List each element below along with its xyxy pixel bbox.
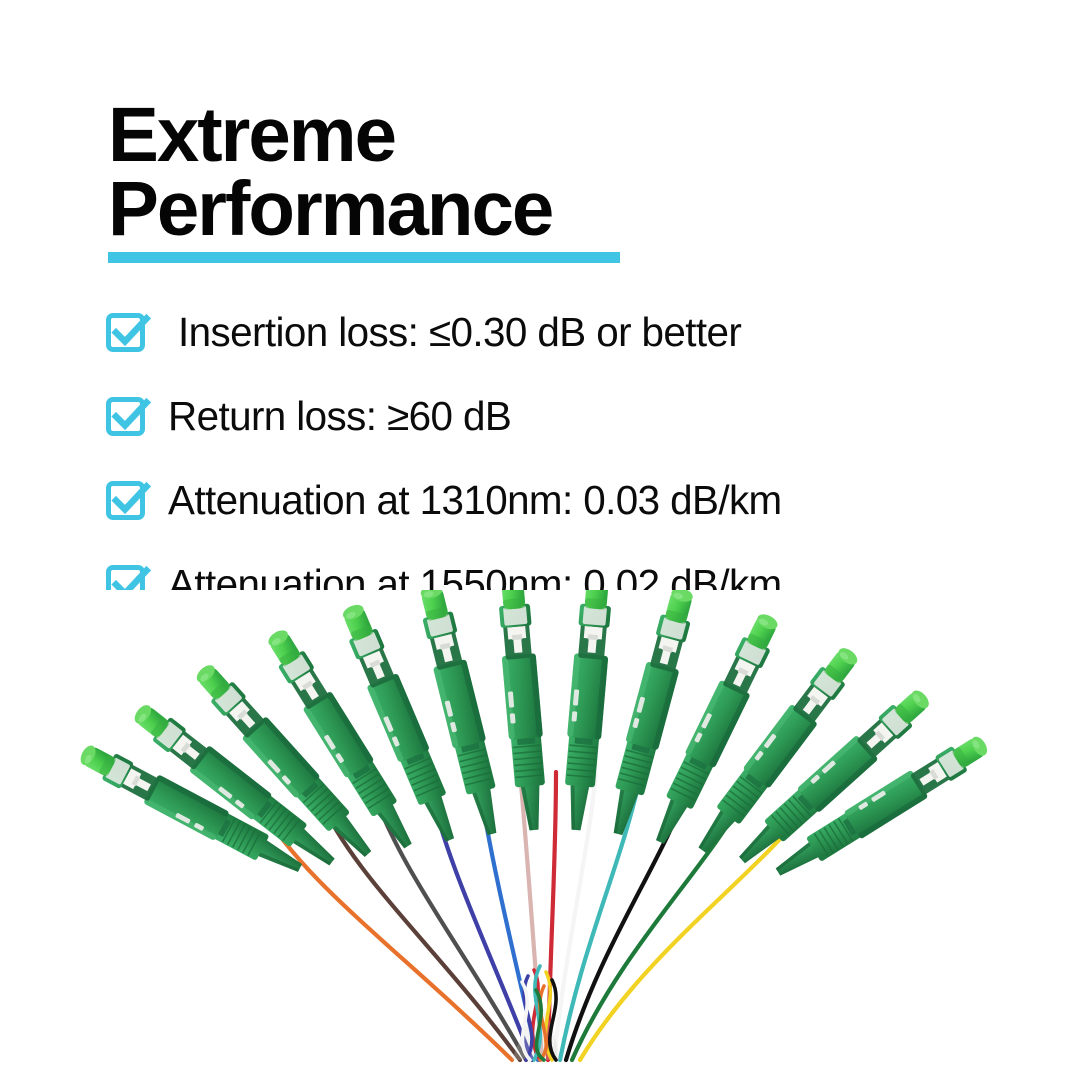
title-underline-rule <box>108 252 620 263</box>
list-item: Return loss: ≥60 dB <box>104 374 1004 458</box>
page-title-line-1: Extreme <box>108 98 959 172</box>
list-item-label: Attenuation at 1310nm: 0.03 dB/km <box>168 478 782 522</box>
page-title-line-2: Performance <box>108 172 959 246</box>
list-item-label: Insertion loss: ≤0.30 dB or better <box>178 310 741 354</box>
list-item: Insertion loss: ≤0.30 dB or better <box>104 290 1004 374</box>
page-title: Extreme Performance <box>108 98 968 246</box>
checkbox-checked-icon <box>104 307 154 357</box>
fiber-optic-sc-apc-pigtail-fan-image <box>0 590 1080 1080</box>
feature-list: Insertion loss: ≤0.30 dB or better Retur… <box>104 290 1004 626</box>
list-item: Attenuation at 1310nm: 0.03 dB/km <box>104 458 1004 542</box>
poster-canvas: Extreme Performance Insertion loss: ≤0.3… <box>0 0 1080 1080</box>
list-item-label: Return loss: ≥60 dB <box>168 394 511 438</box>
fiber-fan-illustration <box>0 590 1080 1080</box>
checkbox-checked-icon <box>104 391 154 441</box>
checkbox-checked-icon <box>104 475 154 525</box>
